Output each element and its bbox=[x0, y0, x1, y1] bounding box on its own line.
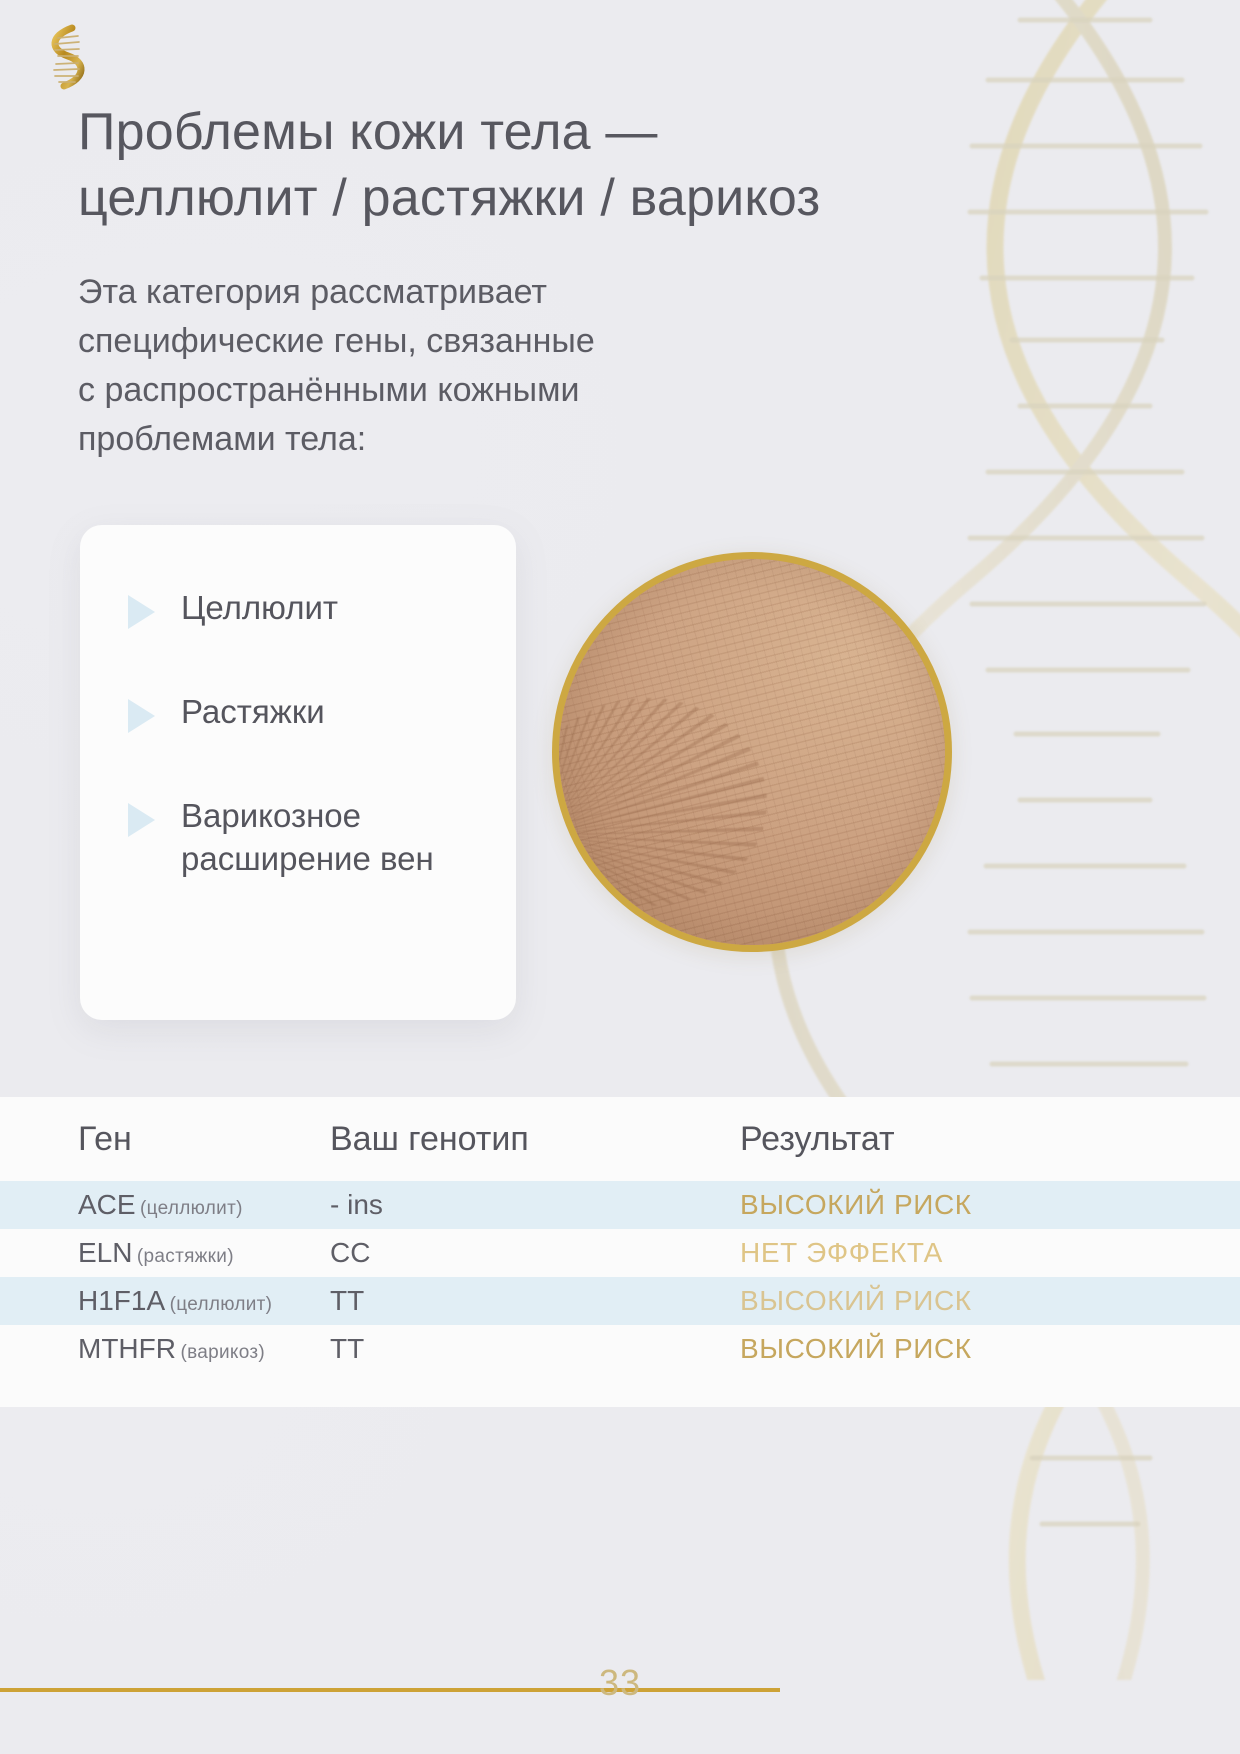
triangle-right-icon bbox=[128, 595, 155, 629]
dna-helix-icon bbox=[34, 22, 94, 92]
genotype-value: TT bbox=[330, 1333, 740, 1365]
column-header-result: Результат bbox=[740, 1120, 1240, 1159]
triangle-right-icon bbox=[128, 699, 155, 733]
table-header-row: Ген Ваш генотип Результат bbox=[0, 1097, 1240, 1181]
gene-name: H1F1A bbox=[78, 1285, 165, 1316]
intro-line-3: с распространёнными кожными bbox=[78, 371, 579, 409]
intro-paragraph: Эта категория рассматривает специфически… bbox=[78, 268, 818, 464]
result-value: ВЫСОКИЙ РИСК bbox=[740, 1285, 972, 1316]
list-item: Варикозное расширение вен bbox=[110, 795, 486, 879]
gene-name: ACE bbox=[78, 1189, 136, 1220]
page-number: 33 bbox=[0, 1662, 1240, 1704]
intro-line-1: Эта категория рассматривает bbox=[78, 273, 547, 311]
intro-line-4: проблемами тела: bbox=[78, 420, 366, 458]
column-header-genotype: Ваш генотип bbox=[330, 1120, 740, 1159]
intro-line-2: специфические гены, связанные bbox=[78, 322, 595, 360]
skin-cellulite-photo bbox=[552, 552, 952, 952]
bullet-label-varicose: Варикозное расширение вен bbox=[181, 795, 486, 879]
gene-note: (целлюлит) bbox=[140, 1198, 243, 1219]
table-row: ELN (растяжки) CC НЕТ ЭФФЕКТА bbox=[0, 1229, 1240, 1277]
conditions-card: Целлюлит Растяжки Варикозное расширение … bbox=[80, 525, 516, 1020]
table-row: MTHFR (варикоз) TT ВЫСОКИЙ РИСК bbox=[0, 1325, 1240, 1373]
bullet-label-stretchmarks: Растяжки bbox=[181, 691, 325, 733]
genotype-value: TT bbox=[330, 1285, 740, 1317]
gene-name: MTHFR bbox=[78, 1333, 176, 1364]
gene-note: (растяжки) bbox=[137, 1246, 234, 1267]
genotype-value: - ins bbox=[330, 1189, 740, 1221]
list-item: Целлюлит bbox=[110, 587, 486, 629]
page-title-line2: целлюлит / растяжки / варикоз bbox=[78, 169, 820, 227]
result-value: ВЫСОКИЙ РИСК bbox=[740, 1333, 972, 1364]
gene-name: ELN bbox=[78, 1237, 132, 1268]
table-row: ACE (целлюлит) - ins ВЫСОКИЙ РИСК bbox=[0, 1181, 1240, 1229]
genotype-value: CC bbox=[330, 1237, 740, 1269]
genotype-table: Ген Ваш генотип Результат ACE (целлюлит)… bbox=[0, 1097, 1240, 1407]
result-value: НЕТ ЭФФЕКТА bbox=[740, 1237, 943, 1268]
gene-note: (целлюлит) bbox=[170, 1294, 273, 1315]
page-title-line1: Проблемы кожи тела — bbox=[78, 103, 658, 161]
page-title: Проблемы кожи тела — целлюлит / растяжки… bbox=[78, 100, 978, 231]
table-row: H1F1A (целлюлит) TT ВЫСОКИЙ РИСК bbox=[0, 1277, 1240, 1325]
triangle-right-icon bbox=[128, 803, 155, 837]
list-item: Растяжки bbox=[110, 691, 486, 733]
bullet-label-cellulite: Целлюлит bbox=[181, 587, 338, 629]
gene-note: (варикоз) bbox=[180, 1342, 265, 1363]
result-value: ВЫСОКИЙ РИСК bbox=[740, 1189, 972, 1220]
column-header-gene: Ген bbox=[0, 1120, 330, 1159]
photo-vignette bbox=[559, 559, 945, 945]
